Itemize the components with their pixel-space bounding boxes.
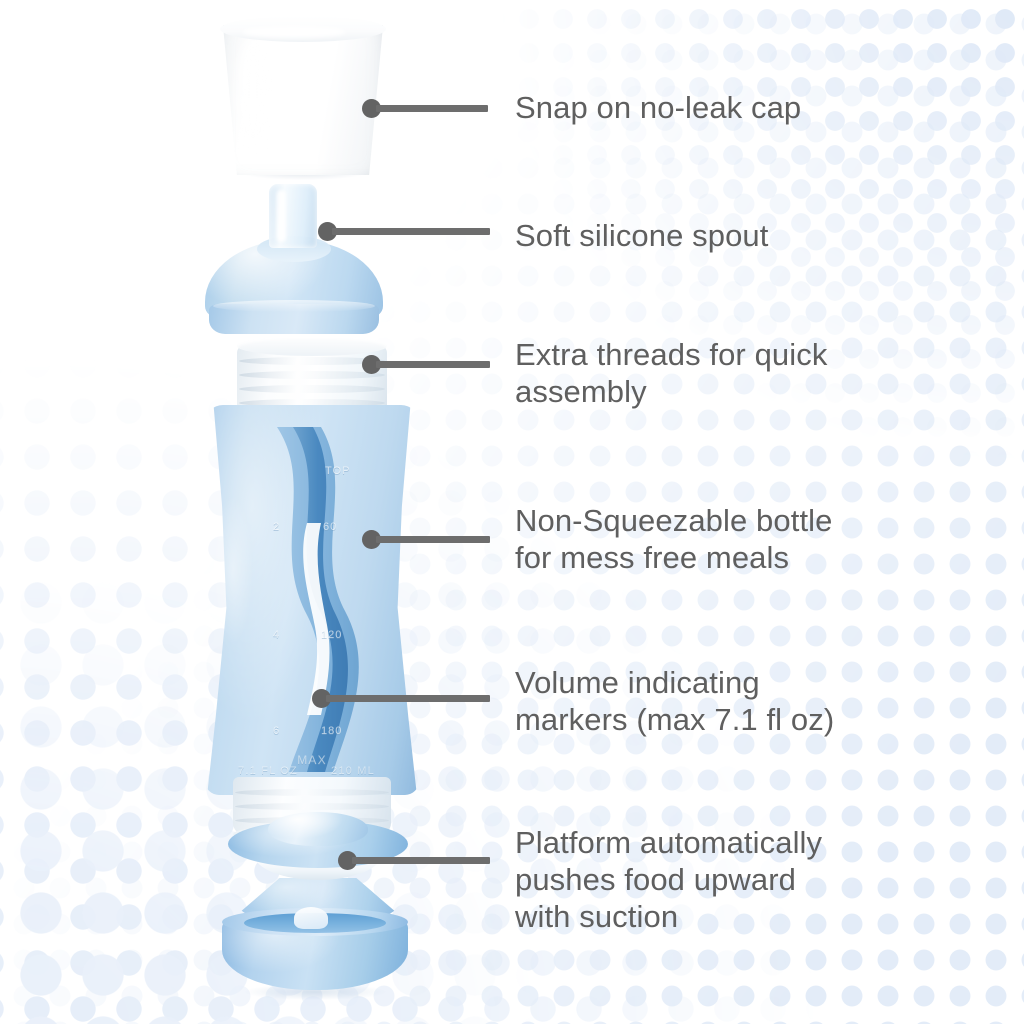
cap-top-sheen — [242, 26, 346, 38]
base-cap-valve — [294, 907, 328, 929]
bottle-thread-3 — [239, 385, 385, 393]
volume-mark-top: TOP — [325, 465, 350, 477]
bottle-thread-2 — [239, 371, 385, 379]
bottle-side-grip — [213, 495, 253, 645]
bottle-bottom-thread-2 — [235, 803, 389, 810]
base-cap — [222, 908, 408, 1008]
cap-gloss-highlight — [236, 38, 270, 158]
spout-base-lip — [213, 300, 375, 312]
leader-line-volume — [326, 695, 490, 702]
infographic-canvas: TOP 2 60 4 120 6 180 MAX 7.1 FL OZ 210 M… — [0, 0, 1024, 1024]
volume-mark-oz-2: 2 — [273, 521, 280, 533]
leader-line-platform — [352, 857, 490, 864]
bottle-bottom-thread-1 — [235, 789, 389, 796]
label-extra-threads: Extra threads for quick assembly — [515, 337, 965, 411]
volume-mark-max-oz: 7.1 FL OZ — [225, 765, 311, 777]
silicone-spout-assembly — [205, 184, 383, 336]
label-non-squeezable: Non-Squeezable bottle for mess free meal… — [515, 503, 965, 577]
volume-mark-oz-4: 4 — [273, 629, 280, 641]
spout-nozzle-highlight — [277, 190, 286, 242]
label-suction-platform: Platform automatically pushes food upwar… — [515, 825, 965, 936]
leader-line-spout — [332, 228, 490, 235]
bottle-body: TOP 2 60 4 120 6 180 MAX 7.1 FL OZ 210 M… — [205, 345, 419, 845]
platform-dome — [268, 812, 368, 846]
volume-mark-max-ml: 210 ML — [313, 765, 393, 777]
volume-mark-ml-120: 120 — [321, 629, 342, 641]
label-silicone-spout: Soft silicone spout — [515, 218, 955, 255]
leader-line-bottle — [376, 536, 490, 543]
leader-line-threads — [376, 361, 490, 368]
leader-line-cap — [376, 105, 488, 112]
volume-mark-ml-60: 60 — [323, 521, 337, 533]
volume-mark-oz-6: 6 — [273, 725, 280, 737]
label-snap-on-cap: Snap on no-leak cap — [515, 90, 955, 127]
label-volume-markers: Volume indicating markers (max 7.1 fl oz… — [515, 665, 965, 739]
bottle-neck-rim — [237, 336, 387, 356]
volume-mark-ml-180: 180 — [321, 725, 342, 737]
